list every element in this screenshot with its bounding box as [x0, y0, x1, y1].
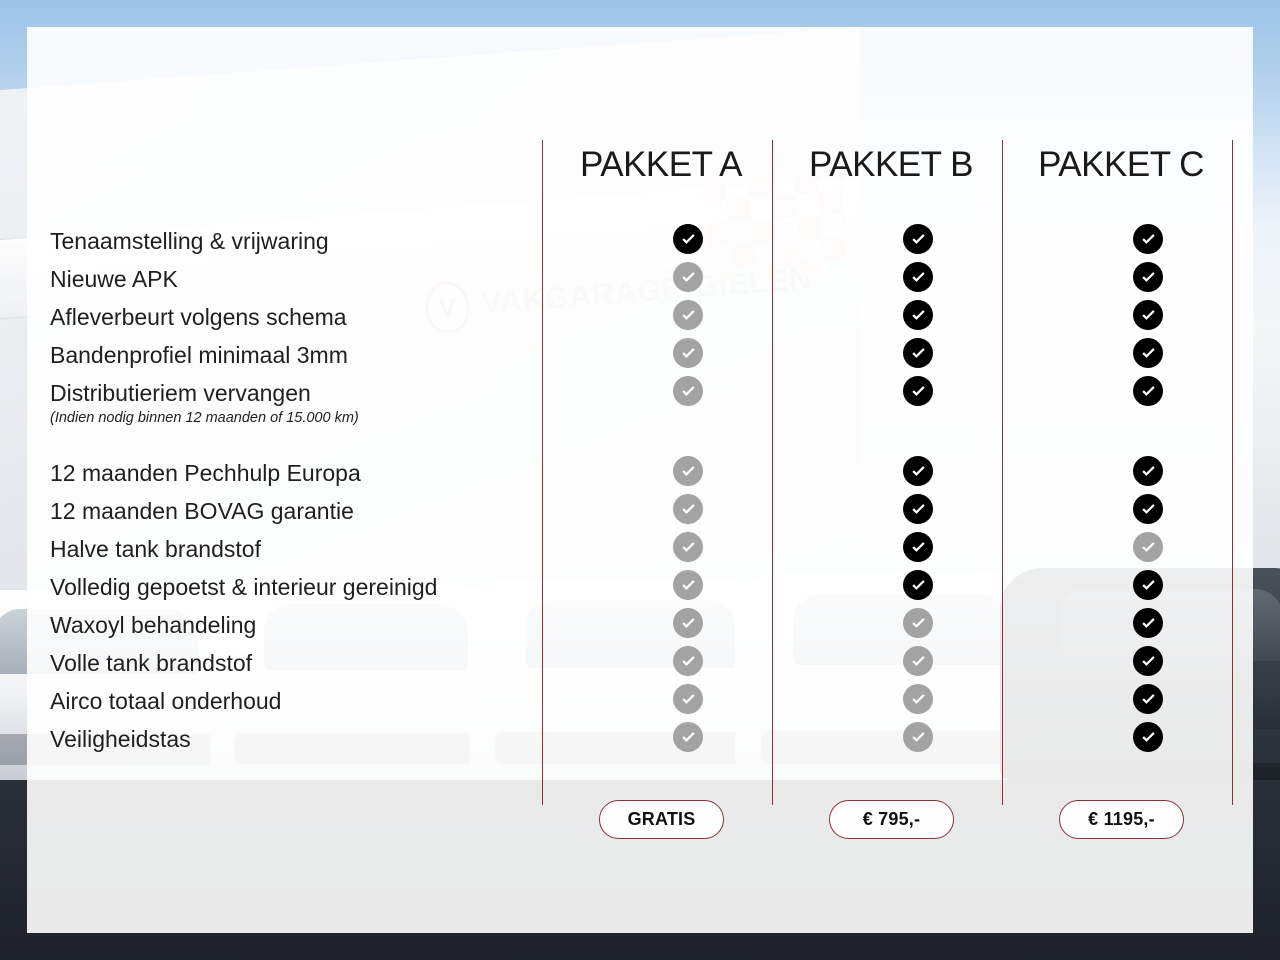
column-divider-3 [1232, 140, 1233, 805]
check-excluded-icon [673, 338, 703, 368]
check-excluded-icon [673, 300, 703, 330]
check-included-icon [673, 224, 703, 254]
feature-label: Afleverbeurt volgens schema [50, 306, 347, 329]
price-button-pakket-c[interactable]: € 1195,- [1059, 800, 1184, 839]
feature-label: Distributieriem vervangen(Indien nodig b… [50, 382, 359, 426]
check-included-icon [903, 456, 933, 486]
price-button-pakket-b[interactable]: € 795,- [829, 800, 954, 839]
check-excluded-icon [903, 684, 933, 714]
comparison-card: PAKKET A PAKKET B PAKKET C GRATIS € 795,… [27, 27, 1253, 933]
feature-label: 12 maanden BOVAG garantie [50, 500, 354, 523]
check-included-icon [903, 494, 933, 524]
check-excluded-icon [673, 684, 703, 714]
column-header-pakket-a: PAKKET A [546, 145, 776, 185]
check-excluded-icon [673, 456, 703, 486]
feature-note: (Indien nodig binnen 12 maanden of 15.00… [50, 411, 359, 426]
column-divider-0 [542, 140, 543, 805]
column-header-pakket-c: PAKKET C [1006, 145, 1236, 185]
column-header-pakket-b: PAKKET B [776, 145, 1006, 185]
check-included-icon [903, 224, 933, 254]
check-included-icon [903, 570, 933, 600]
check-included-icon [1133, 224, 1163, 254]
check-included-icon [1133, 300, 1163, 330]
feature-label: Airco totaal onderhoud [50, 690, 281, 713]
comparison-poster: VAKGARAGE GIELEN PAKKET A PAKKET B PAKKE… [0, 0, 1280, 960]
feature-label: Volledig gepoetst & interieur gereinigd [50, 576, 437, 599]
package-comparison-table: PAKKET A PAKKET B PAKKET C GRATIS € 795,… [27, 27, 1253, 933]
feature-label: Bandenprofiel minimaal 3mm [50, 344, 348, 367]
check-included-icon [903, 532, 933, 562]
check-included-icon [1133, 646, 1163, 676]
check-included-icon [1133, 456, 1163, 486]
check-excluded-icon [1133, 532, 1163, 562]
check-included-icon [1133, 262, 1163, 292]
check-included-icon [1133, 608, 1163, 638]
check-excluded-icon [673, 494, 703, 524]
check-excluded-icon [673, 570, 703, 600]
check-included-icon [903, 262, 933, 292]
check-excluded-icon [673, 722, 703, 752]
feature-label: Tenaamstelling & vrijwaring [50, 230, 329, 253]
feature-label: Halve tank brandstof [50, 538, 261, 561]
check-included-icon [1133, 570, 1163, 600]
check-included-icon [1133, 376, 1163, 406]
price-button-pakket-a[interactable]: GRATIS [599, 800, 724, 839]
check-included-icon [1133, 684, 1163, 714]
check-excluded-icon [673, 646, 703, 676]
check-included-icon [903, 376, 933, 406]
check-excluded-icon [673, 376, 703, 406]
feature-label: Veiligheidstas [50, 728, 191, 751]
check-excluded-icon [673, 262, 703, 292]
check-included-icon [1133, 338, 1163, 368]
feature-label: 12 maanden Pechhulp Europa [50, 462, 361, 485]
column-divider-1 [772, 140, 773, 805]
check-excluded-icon [673, 608, 703, 638]
column-divider-2 [1002, 140, 1003, 805]
feature-label: Volle tank brandstof [50, 652, 252, 675]
check-included-icon [903, 338, 933, 368]
check-excluded-icon [903, 646, 933, 676]
check-included-icon [1133, 494, 1163, 524]
check-included-icon [1133, 722, 1163, 752]
check-excluded-icon [903, 608, 933, 638]
check-included-icon [903, 300, 933, 330]
feature-label: Waxoyl behandeling [50, 614, 256, 637]
feature-label: Nieuwe APK [50, 268, 178, 291]
check-excluded-icon [673, 532, 703, 562]
check-excluded-icon [903, 722, 933, 752]
